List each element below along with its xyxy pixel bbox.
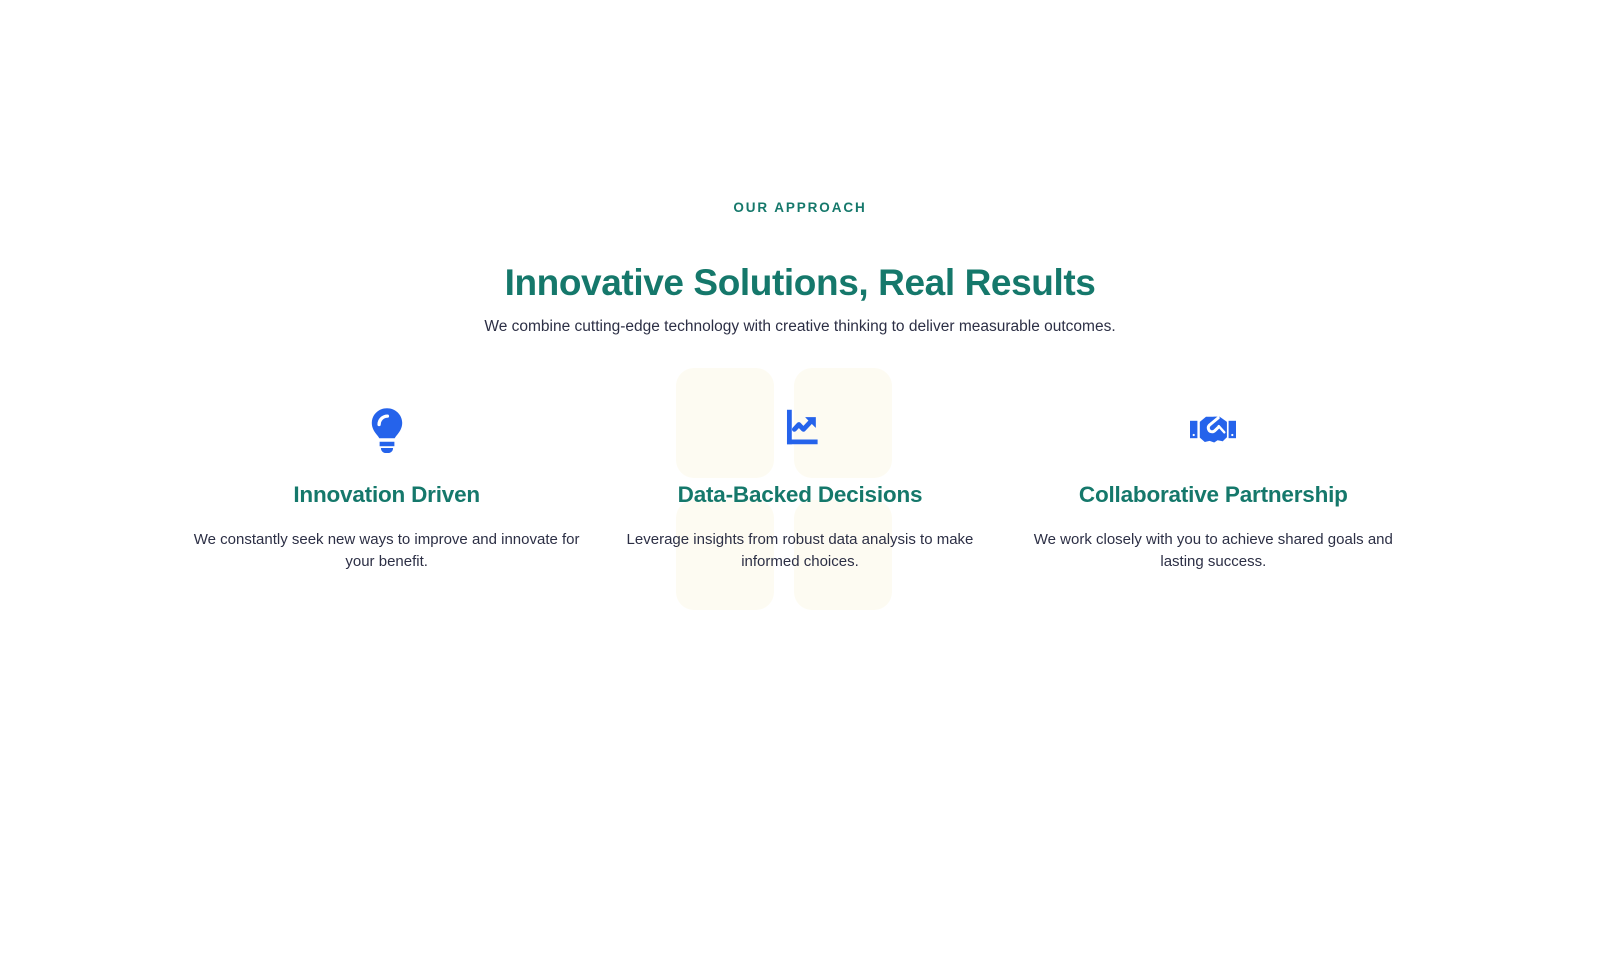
- chart-trending-up-icon: [772, 400, 828, 456]
- lightbulb-icon: [359, 400, 415, 456]
- feature-card-title: Data-Backed Decisions: [678, 480, 923, 510]
- feature-card-innovation: Innovation Driven We constantly seek new…: [180, 400, 593, 572]
- handshake-icon: [1185, 400, 1241, 456]
- our-approach-section: OUR APPROACH Innovative Solutions, Real …: [0, 0, 1600, 978]
- feature-cards-row: Innovation Driven We constantly seek new…: [180, 400, 1420, 572]
- feature-card-description: Leverage insights from robust data analy…: [624, 529, 976, 572]
- feature-card-title: Innovation Driven: [293, 480, 480, 510]
- page-title: Innovative Solutions, Real Results: [0, 260, 1600, 306]
- feature-card-data: Data-Backed Decisions Leverage insights …: [593, 400, 1006, 572]
- section-subtitle: We combine cutting-edge technology with …: [0, 316, 1600, 338]
- feature-card-partnership: Collaborative Partnership We work closel…: [1007, 400, 1420, 572]
- feature-card-title: Collaborative Partnership: [1079, 480, 1348, 510]
- feature-card-description: We constantly seek new ways to improve a…: [192, 529, 582, 572]
- feature-card-description: We work closely with you to achieve shar…: [1033, 529, 1393, 572]
- section-eyebrow: OUR APPROACH: [0, 199, 1600, 217]
